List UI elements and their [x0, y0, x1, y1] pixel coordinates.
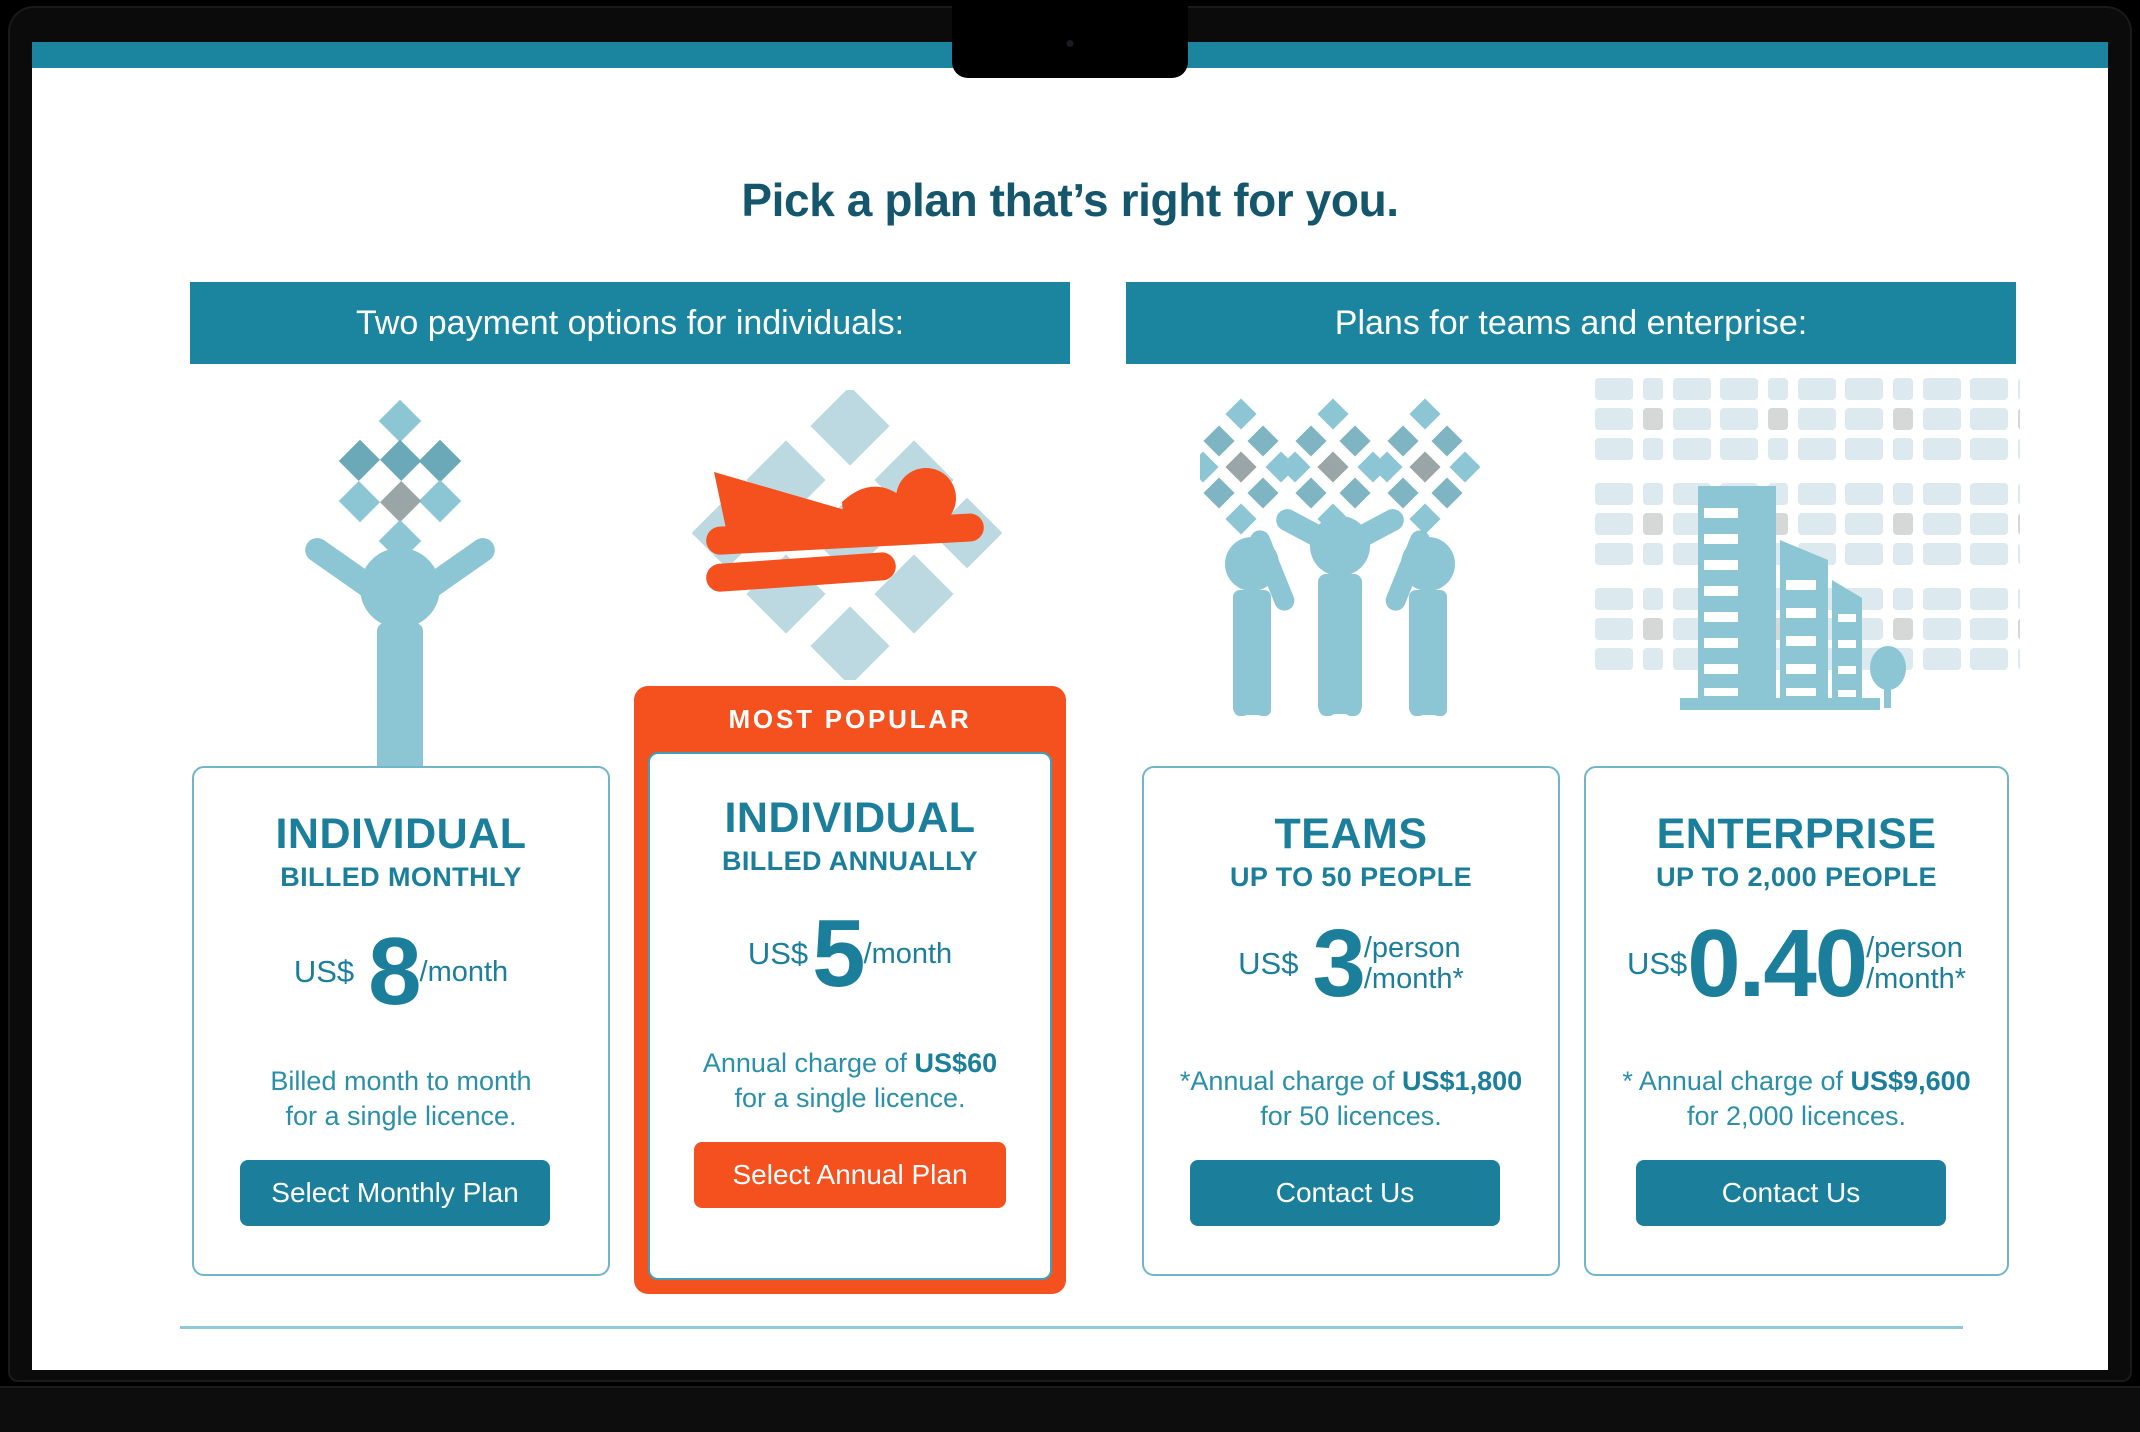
plan-card-enterprise[interactable]: ENTERPRISE UP TO 2,000 PEOPLE US$ 0.40 /…: [1584, 766, 2009, 1276]
price-unit-line-1: /person: [1364, 933, 1461, 964]
device-frame: Pick a plan that’s right for you. Two pa…: [0, 0, 2140, 1432]
contact-us-button-enterprise[interactable]: Contact Us: [1636, 1160, 1946, 1226]
group-header-individuals: Two payment options for individuals:: [190, 282, 1070, 364]
plan-subtitle-individual-monthly: BILLED MONTHLY: [194, 862, 608, 893]
pricing-page: Pick a plan that’s right for you. Two pa…: [32, 68, 2108, 1370]
group-header-individuals-label: Two payment options for individuals:: [356, 304, 904, 343]
plan-note-line-2: for a single licence.: [285, 1101, 516, 1131]
plan-card-individual-monthly[interactable]: INDIVIDUAL BILLED MONTHLY US$ 8 /month B…: [192, 766, 610, 1276]
select-monthly-plan-button[interactable]: Select Monthly Plan: [240, 1160, 550, 1226]
plan-subtitle-bold: 2,000: [1748, 862, 1818, 892]
group-header-teams-label: Plans for teams and enterprise:: [1335, 304, 1807, 343]
plan-name-individual-monthly: INDIVIDUAL: [194, 810, 608, 859]
plan-note-line-1: Annual charge of: [703, 1048, 915, 1078]
price-individual-monthly: US$ 8 /month: [194, 928, 608, 1016]
price-currency: US$: [748, 936, 808, 972]
plan-note-individual-monthly: Billed month to month for a single licen…: [194, 1064, 608, 1134]
plan-subtitle-bold: 50: [1321, 862, 1352, 892]
price-unit-line-2: /month*: [1866, 964, 1966, 995]
plan-subtitle-prefix: UP TO: [1230, 862, 1321, 892]
plan-card-teams[interactable]: TEAMS UP TO 50 PEOPLE US$ 3 /person /mon…: [1142, 766, 1560, 1276]
plan-card-individual-annual[interactable]: INDIVIDUAL BILLED ANNUALLY US$ 5 /month …: [648, 752, 1052, 1280]
price-enterprise: US$ 0.40 /person /month*: [1586, 920, 2007, 1008]
most-popular-badge: MOST POPULAR: [634, 686, 1066, 752]
footer-divider: [180, 1326, 1963, 1329]
price-currency: US$: [294, 954, 354, 990]
plan-note-line-2: for a single licence.: [734, 1083, 965, 1113]
plan-name-enterprise: ENTERPRISE: [1586, 810, 2007, 859]
price-teams: US$ 3 /person /month*: [1144, 920, 1558, 1008]
cityscape-icon: [1580, 368, 2020, 718]
price-individual-annual: US$ 5 /month: [650, 910, 1050, 998]
plan-note-individual-annual: Annual charge of US$60 for a single lice…: [650, 1046, 1050, 1116]
price-unit-line-2: /month*: [1364, 964, 1464, 995]
price-amount: 0.40: [1687, 920, 1866, 1008]
plan-note-line-1: * Annual charge of: [1622, 1066, 1850, 1096]
price-amount: 3: [1312, 920, 1363, 1008]
plan-name-individual-annual: INDIVIDUAL: [650, 794, 1050, 843]
page-title: Pick a plan that’s right for you.: [32, 173, 2108, 227]
plan-subtitle-suffix: PEOPLE: [1352, 862, 1472, 892]
price-unit-line-1: /person: [1866, 933, 1963, 964]
contact-us-button-teams[interactable]: Contact Us: [1190, 1160, 1500, 1226]
plan-note-enterprise: * Annual charge of US$9,600 for 2,000 li…: [1586, 1064, 2007, 1134]
plan-note-bold: US$1,800: [1402, 1066, 1522, 1096]
plan-note-line-1: *Annual charge of: [1180, 1066, 1402, 1096]
plan-note-bold: US$60: [915, 1048, 998, 1078]
plan-note-line-2: for 2,000 licences.: [1687, 1101, 1906, 1131]
plan-subtitle-individual-annual: BILLED ANNUALLY: [650, 846, 1050, 877]
flying-superhero-icon: [692, 390, 1002, 680]
plan-subtitle-suffix: PEOPLE: [1817, 862, 1937, 892]
group-header-teams: Plans for teams and enterprise:: [1126, 282, 2016, 364]
price-currency: US$: [1627, 946, 1687, 982]
price-currency: US$: [1238, 946, 1298, 982]
plan-subtitle-teams: UP TO 50 PEOPLE: [1144, 862, 1558, 893]
screen: Pick a plan that’s right for you. Two pa…: [32, 42, 2108, 1370]
device-base: [0, 1386, 2140, 1432]
price-amount: 8: [368, 928, 419, 1016]
plan-note-line-1: Billed month to month: [270, 1066, 531, 1096]
plan-subtitle-prefix: UP TO: [1656, 862, 1747, 892]
plan-card-individual-annual-highlight[interactable]: MOST POPULAR INDIVIDUAL BILLED ANNUALLY …: [634, 686, 1066, 1294]
price-amount: 5: [812, 910, 863, 998]
person-celebrating-icon: [280, 398, 520, 768]
camera-icon: [1067, 40, 1074, 47]
plan-note-bold: US$9,600: [1851, 1066, 1971, 1096]
price-unit-line-1: /month: [864, 939, 953, 970]
plan-note-line-2: for 50 licences.: [1260, 1101, 1442, 1131]
three-people-celebrating-icon: [1200, 398, 1480, 738]
plan-note-teams: *Annual charge of US$1,800 for 50 licenc…: [1144, 1064, 1558, 1134]
plan-subtitle-enterprise: UP TO 2,000 PEOPLE: [1586, 862, 2007, 893]
price-unit-line-1: /month: [420, 957, 509, 988]
select-annual-plan-button[interactable]: Select Annual Plan: [694, 1142, 1006, 1208]
plan-name-teams: TEAMS: [1144, 810, 1558, 859]
